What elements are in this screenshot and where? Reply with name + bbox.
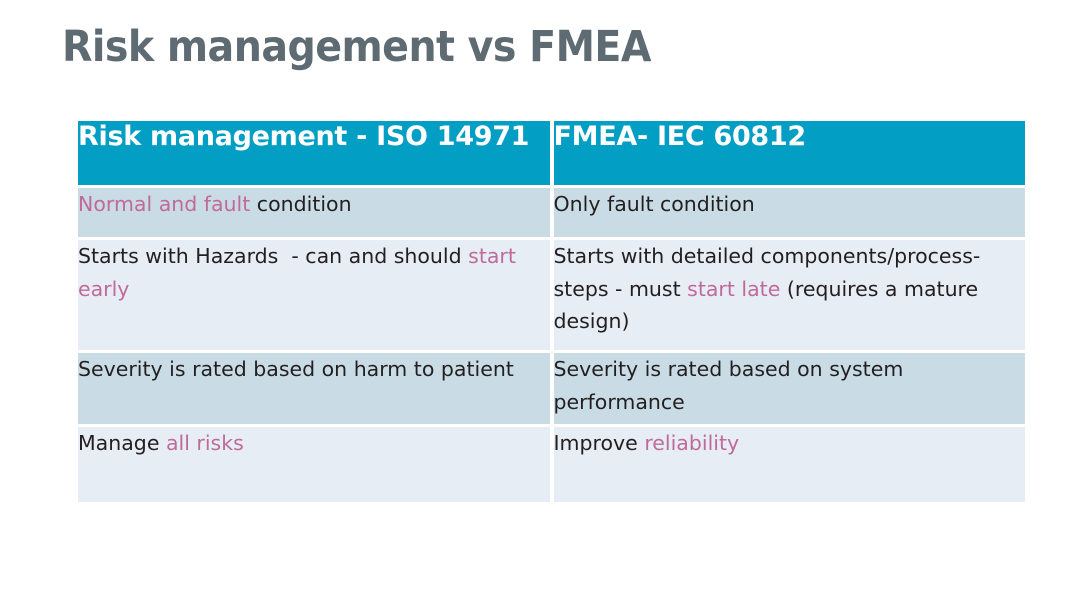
- table-row: Normal and fault condition Only fault co…: [78, 188, 1025, 237]
- table-body: Normal and fault condition Only fault co…: [78, 188, 1025, 502]
- highlighted-text: start late: [687, 277, 780, 301]
- plain-text: Severity is rated based on harm to patie…: [78, 357, 514, 381]
- cell-fmea-4: Improve reliability: [554, 427, 1026, 502]
- table-row: Manage all risks Improve reliability: [78, 427, 1025, 502]
- column-header-risk-management: Risk management - ISO 14971: [78, 121, 550, 185]
- highlighted-text: all risks: [166, 431, 244, 455]
- cell-fmea-3: Severity is rated based on system perfor…: [554, 353, 1026, 424]
- cell-risk-management-4: Manage all risks: [78, 427, 550, 502]
- column-header-fmea: FMEA- IEC 60812: [554, 121, 1026, 185]
- page-title: Risk management vs FMEA: [62, 22, 651, 72]
- cell-fmea-1: Only fault condition: [554, 188, 1026, 237]
- highlighted-text: Normal and fault: [78, 192, 250, 216]
- cell-risk-management-2: Starts with Hazards - can and should sta…: [78, 240, 550, 350]
- cell-fmea-2: Starts with detailed components/process-…: [554, 240, 1026, 350]
- cell-risk-management-3: Severity is rated based on harm to patie…: [78, 353, 550, 424]
- plain-text: Improve: [554, 431, 645, 455]
- plain-text: condition: [250, 192, 351, 216]
- table-row: Severity is rated based on harm to patie…: [78, 353, 1025, 424]
- table-header: Risk management - ISO 14971 FMEA- IEC 60…: [78, 121, 1025, 185]
- slide-canvas: Risk management vs FMEA Risk management …: [0, 0, 1080, 607]
- plain-text: Only fault condition: [554, 192, 755, 216]
- plain-text: Manage: [78, 431, 166, 455]
- table-header-row: Risk management - ISO 14971 FMEA- IEC 60…: [78, 121, 1025, 185]
- table-row: Starts with Hazards - can and should sta…: [78, 240, 1025, 350]
- plain-text: Severity is rated based on system perfor…: [554, 357, 910, 414]
- cell-risk-management-1: Normal and fault condition: [78, 188, 550, 237]
- plain-text: Starts with Hazards - can and should: [78, 244, 468, 268]
- highlighted-text: reliability: [644, 431, 739, 455]
- risk-management-vs-fmea-table: Risk management - ISO 14971 FMEA- IEC 60…: [74, 118, 1029, 505]
